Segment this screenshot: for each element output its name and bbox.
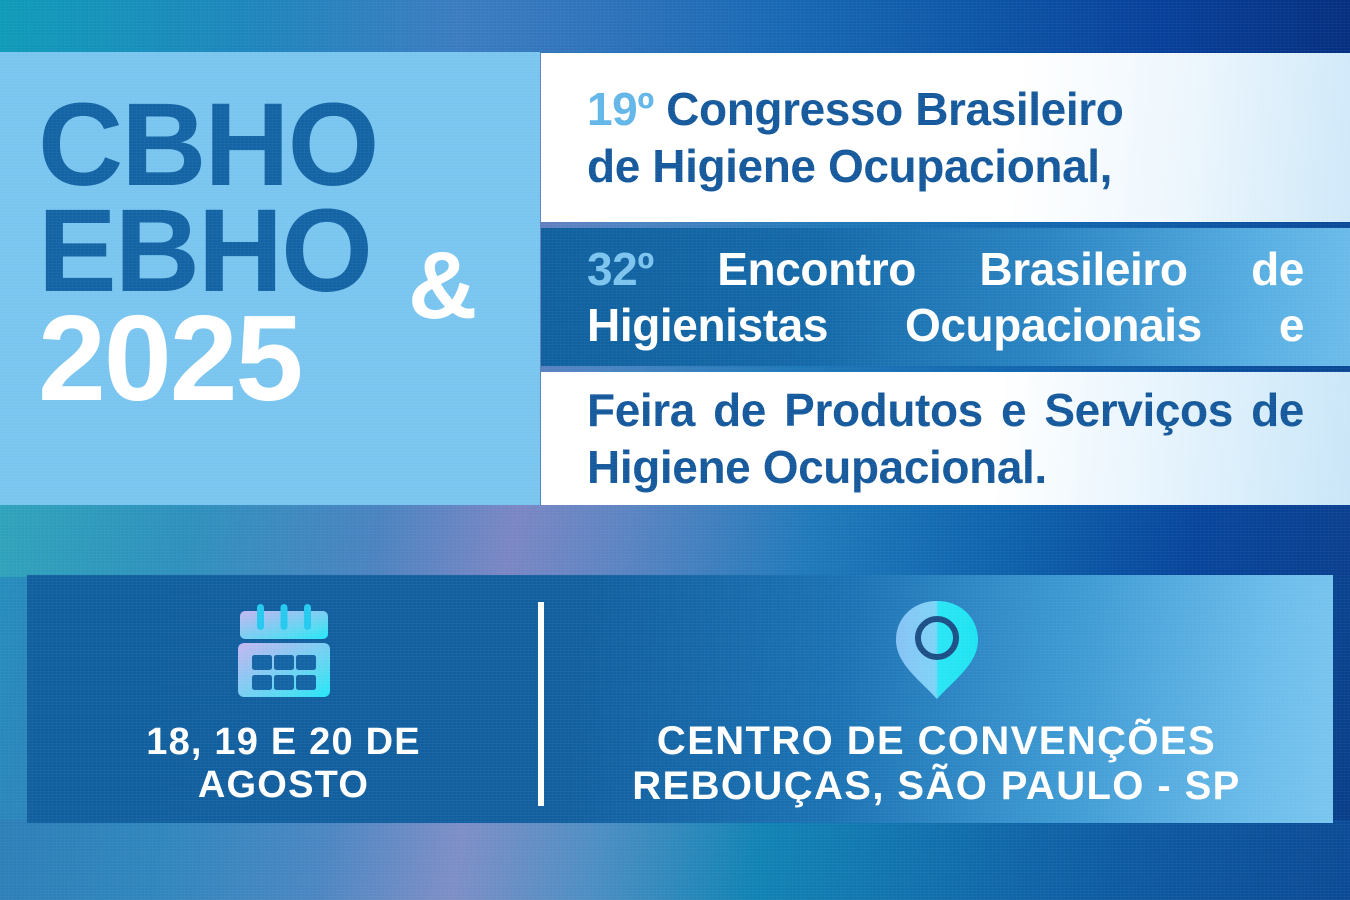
ordinal-32: 32º xyxy=(587,241,654,297)
background-bottom-band xyxy=(0,820,1350,900)
date-line-2: AGOSTO xyxy=(146,764,421,807)
background-middle-band xyxy=(0,505,1350,577)
calendar-icon xyxy=(224,599,344,705)
title-2-word-1: Encontro xyxy=(717,241,916,297)
title-block-encontro: 32º Encontro Brasileiro de Higienistas O… xyxy=(541,228,1350,366)
title-1-line-1-text: Congresso Brasileiro xyxy=(666,83,1123,135)
title-2-word-5: Ocupacionais xyxy=(905,297,1202,353)
title-1-line-1: 19º Congresso Brasileiro xyxy=(587,81,1350,137)
title-3-word-1: Feira xyxy=(587,382,695,438)
title-3-word-2: de xyxy=(713,382,766,438)
title-3-word-5: Serviços xyxy=(1044,382,1233,438)
background-top-band xyxy=(0,0,1350,53)
info-divider xyxy=(538,602,544,806)
title-2-line-2: Higienistas Ocupacionais e xyxy=(587,297,1350,353)
title-2-word-4: Higienistas xyxy=(587,297,828,353)
title-block-congresso: 19º Congresso Brasileiro de Higiene Ocup… xyxy=(541,53,1350,222)
date-column: 18, 19 E 20 DE AGOSTO xyxy=(27,575,540,823)
title-3-line-2: Higiene Ocupacional. xyxy=(587,439,1350,495)
title-2-word-2: Brasileiro xyxy=(979,241,1187,297)
logo-ampersand: & xyxy=(408,238,477,334)
location-text: CENTRO DE CONVENÇÕES REBOUÇAS, SÃO PAULO… xyxy=(632,719,1240,809)
date-line-1: 18, 19 E 20 DE xyxy=(146,721,421,764)
title-3-line-1: Feira de Produtos e Serviços de xyxy=(587,382,1350,438)
title-2-word-3: de xyxy=(1251,241,1304,297)
logo-line-cbho: CBHO xyxy=(38,92,518,198)
location-line-1: CENTRO DE CONVENÇÕES xyxy=(632,719,1240,764)
event-banner: CBHO EBHO 2025 & 19º Congresso Brasileir… xyxy=(0,0,1350,900)
map-pin-icon xyxy=(887,597,987,703)
title-3-word-3: Produtos xyxy=(784,382,983,438)
location-column: CENTRO DE CONVENÇÕES REBOUÇAS, SÃO PAULO… xyxy=(540,575,1333,823)
title-2-line-1: 32º Encontro Brasileiro de xyxy=(587,241,1350,297)
title-3-word-4: e xyxy=(1001,382,1026,438)
ordinal-19: 19º xyxy=(587,83,654,135)
location-line-2: REBOUÇAS, SÃO PAULO - SP xyxy=(632,764,1240,809)
title-2-word-6: e xyxy=(1279,297,1304,353)
title-3-word-6: de xyxy=(1251,382,1304,438)
logo-panel: CBHO EBHO 2025 & xyxy=(0,52,540,505)
date-text: 18, 19 E 20 DE AGOSTO xyxy=(146,721,421,806)
info-bar: 18, 19 E 20 DE AGOSTO xyxy=(27,575,1333,823)
title-1-line-2: de Higiene Ocupacional, xyxy=(587,138,1350,194)
title-block-feira: Feira de Produtos e Serviços de Higiene … xyxy=(541,372,1350,505)
